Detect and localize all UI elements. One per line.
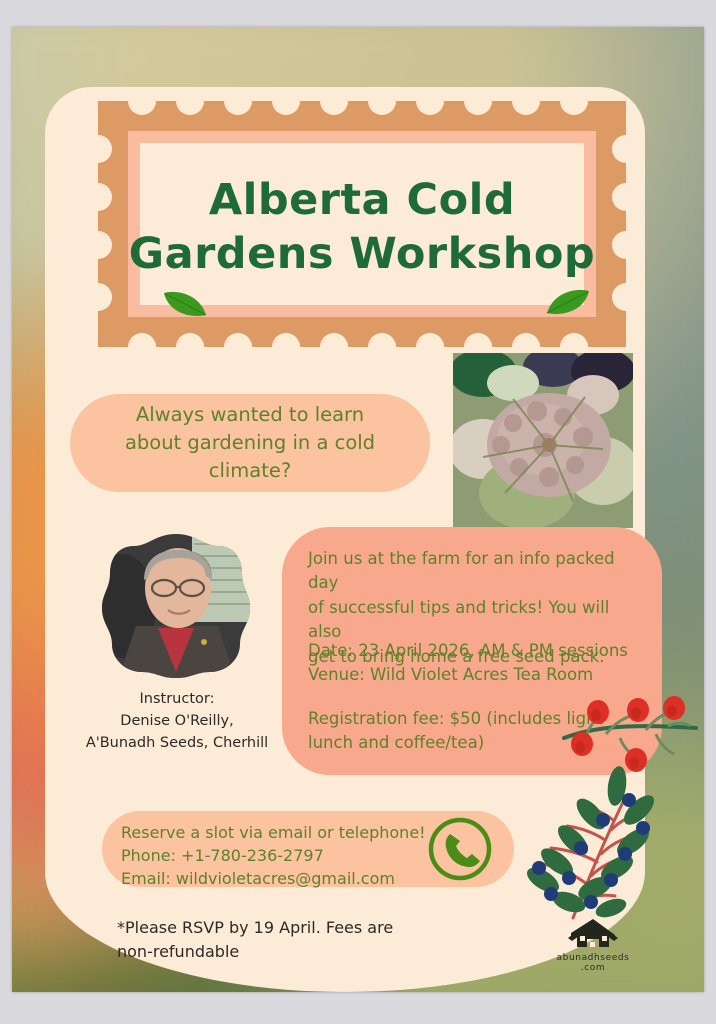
- title-line-1: Alberta Cold: [209, 173, 515, 227]
- flower-photo-art: [453, 353, 633, 528]
- blue-berry-branch-icon: [517, 762, 704, 922]
- leaf-left-icon: [162, 289, 208, 319]
- flower-photo: [453, 353, 633, 528]
- logo-name: abunadhseeds: [540, 953, 646, 963]
- question-text: Always wanted to learn about gardening i…: [107, 401, 393, 484]
- question-bubble: Always wanted to learn about gardening i…: [70, 394, 430, 492]
- screenshot-root: Alberta Cold Gardens Workshop Always wan…: [0, 0, 716, 1024]
- poster-frame: Alberta Cold Gardens Workshop Always wan…: [12, 27, 704, 992]
- contact-text: Reserve a slot via email or telephone! P…: [121, 821, 426, 890]
- instructor-portrait: [100, 532, 252, 680]
- logo-tld: .com: [540, 963, 646, 973]
- instructor-caption: Instructor: Denise O'Reilly, A'Bunadh Se…: [74, 689, 280, 754]
- barn-roof-icon: [565, 917, 621, 951]
- rsvp-note: *Please RSVP by 19 April. Fees are non-r…: [117, 916, 447, 964]
- leaf-right-icon: [545, 287, 591, 317]
- info-date-venue-text: Date: 23 April 2026, AM & PM sessions Ve…: [308, 639, 648, 688]
- instructor-portrait-art: [100, 532, 252, 680]
- title-line-2: Gardens Workshop: [129, 227, 595, 281]
- brand-logo: abunadhseeds .com: [540, 917, 646, 973]
- phone-in-circle-icon[interactable]: [427, 816, 493, 882]
